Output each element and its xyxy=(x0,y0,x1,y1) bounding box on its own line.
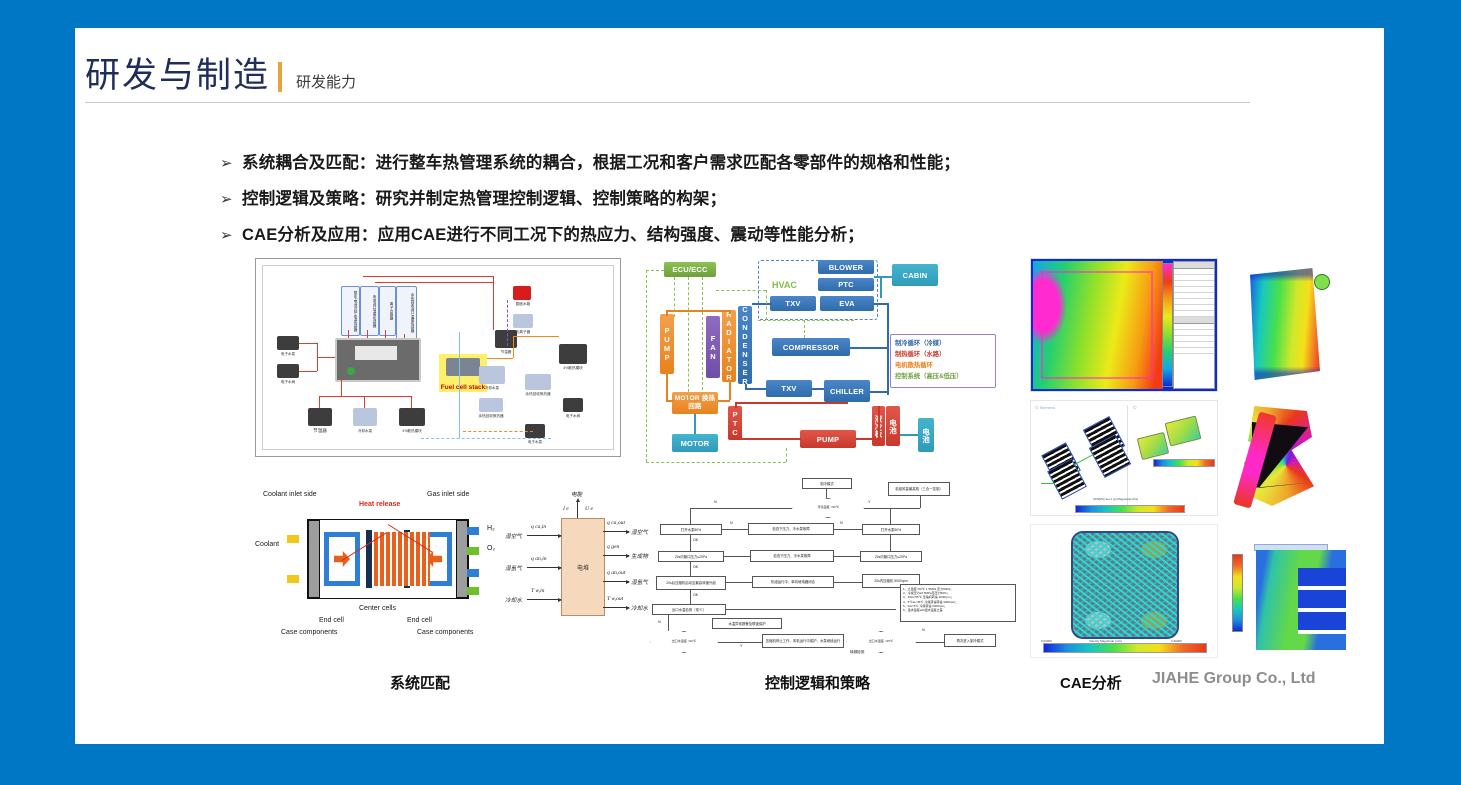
structural-stress-figure xyxy=(1230,540,1348,658)
separator-plate-left xyxy=(366,530,372,588)
list-item: ➢ 系统耦合及匹配：进行整车热管理系统的耦合，根据工况和客户需求匹配各零部件的规… xyxy=(220,152,1220,174)
flow-connector xyxy=(718,642,762,643)
plate-port-inlet xyxy=(1085,541,1111,558)
pipe-red xyxy=(856,438,880,440)
flow-node: 20s内管口压力≤20Pa xyxy=(860,551,922,562)
component-coolant-pump xyxy=(353,408,377,426)
flow-connector xyxy=(834,582,862,583)
connector-wire xyxy=(341,378,342,396)
stress-fin-array xyxy=(1298,568,1346,634)
block-txv-mid: TXV xyxy=(766,380,812,397)
arrow-output-air xyxy=(603,531,629,532)
flow-branch-label: 转频检测 xyxy=(850,650,864,655)
pipe-cyan xyxy=(880,276,882,298)
stack-cross-section-figure: Coolant inlet side Heat release Gas inle… xyxy=(255,483,535,643)
flow-node: 20s内管口压力≤20Pa xyxy=(658,551,724,562)
block-compressor: COMPRESSOR xyxy=(772,338,850,356)
flow-connector xyxy=(916,642,944,643)
label-case-components-left: Case components xyxy=(281,629,337,636)
control-line-dashed xyxy=(804,320,805,338)
legend-item-heating: 制热循环（水路） xyxy=(895,349,991,360)
component-label: 节温器 xyxy=(303,429,337,433)
hvac-architecture-figure: HVAC ECU/ECC BLOWER PTC CABIN TXV EVA PU… xyxy=(640,258,1002,463)
ecu-module xyxy=(335,338,421,382)
connector-wire xyxy=(411,396,412,408)
connector-wire-blue-dashed xyxy=(421,438,551,439)
port-coolant-in xyxy=(287,535,299,543)
flow-branch-label: N xyxy=(840,521,843,525)
bullet-text: CAE分析及应用：应用CAE进行不同工况下的热应力、结构强度、震动等性能分析； xyxy=(242,224,864,246)
colorbar-tick: 2.30000 xyxy=(1171,639,1182,643)
input-symbol-air: q ca,in xyxy=(531,524,546,530)
block-txv-top: TXV xyxy=(770,296,816,311)
component-label: 电子水阀 xyxy=(271,380,305,384)
control-line-dashed xyxy=(702,277,703,395)
flow-node: 再次进入制冷模式 xyxy=(944,634,996,647)
plate-port-inlet-2 xyxy=(1085,612,1111,629)
output-label-air: 湿空气 xyxy=(631,528,648,536)
caption-system-matching: 系统匹配 xyxy=(390,672,450,693)
flow-path-line xyxy=(1041,483,1055,484)
component-label: 4%散热模块 xyxy=(393,429,431,433)
flow-node: 检查下压力、冷水泵故障 xyxy=(748,523,834,535)
connector-wire xyxy=(319,396,411,397)
flow-node: 出口水温检测（常℃） xyxy=(652,604,726,615)
plate-port-outlet xyxy=(1141,541,1167,558)
cfd-block xyxy=(1165,415,1202,446)
control-line-dashed xyxy=(646,270,647,462)
label-coolant: Coolant xyxy=(255,541,279,548)
component-label: 电子水阀 xyxy=(557,414,589,418)
sensor-label-box: 离子交换器 xyxy=(379,286,396,336)
panel-header xyxy=(1174,262,1214,269)
flow-connector xyxy=(920,496,921,508)
caption-control-strategy: 控制逻辑和策略 xyxy=(765,672,870,693)
input-symbol-coolant: T w,in xyxy=(531,588,544,594)
output-label-gen: 生成物 xyxy=(631,552,648,560)
cfd-block xyxy=(1137,432,1169,460)
stress-legend-colorbar xyxy=(1232,554,1243,632)
flow-note-box: 1、之温度>50℃ 1.5MPa 压力60Pa； 2、冷媒压力≥0.5MPa至压… xyxy=(900,584,1016,622)
control-line-dashed xyxy=(786,448,787,462)
pipe-orange xyxy=(666,374,668,400)
pipe-orange xyxy=(666,310,668,316)
pipe-blue xyxy=(745,388,766,390)
bullet-text: 控制逻辑及策略：研究并制定热管理控制逻辑、控制策略的构架； xyxy=(242,188,726,210)
block-ecu: ECU/ECC xyxy=(664,262,716,277)
pipe-blue xyxy=(752,303,772,305)
cfd-colorbar-right xyxy=(1153,459,1215,467)
thermal-measurement-panel xyxy=(1173,261,1215,389)
component-electronic-valve-right xyxy=(563,398,583,412)
block-cabin: CABIN xyxy=(892,264,938,286)
energy-balance-figure: 电能 I e U e 电堆 湿空气 q ca,in 湿氢气 q an,in 冷却… xyxy=(505,480,655,645)
block-pump-bottom: PUMP xyxy=(800,430,856,448)
port-coolant-out xyxy=(287,575,299,583)
flow-connector xyxy=(690,508,792,509)
block-battery-blue: 电池 xyxy=(918,418,934,452)
radiator-temperature-field xyxy=(1244,268,1320,380)
flow-decision: 环境温度 >50℃ xyxy=(792,498,864,518)
component-heat-module xyxy=(399,408,425,426)
flow-connector xyxy=(690,535,691,551)
label-end-cell-right: End cell xyxy=(407,617,432,624)
block-chiller: CHILLER xyxy=(824,380,870,402)
panel-header xyxy=(1174,317,1214,324)
sensor-label-box: 整车/电池冷却水温传感器 xyxy=(341,286,360,336)
component-heat-module-right xyxy=(559,344,587,364)
component-label: 节温器 xyxy=(489,350,523,354)
flow-branch-label: N xyxy=(714,500,717,504)
terminal-voltage: U e xyxy=(585,506,593,512)
fuel-cell-body xyxy=(446,358,480,376)
component-label: 余热回收换热器 xyxy=(473,414,509,418)
input-label-coolant: 冷却水 xyxy=(505,596,522,604)
flow-connector xyxy=(890,535,891,551)
input-symbol-h2: q an,in xyxy=(531,556,547,562)
control-line-dashed xyxy=(646,270,664,271)
flow-path-line xyxy=(1074,454,1094,465)
pipe-blue xyxy=(850,347,887,349)
pipe-red xyxy=(735,438,801,440)
label-h2: H₂ xyxy=(487,525,495,532)
output-label-h2: 湿氢气 xyxy=(631,578,648,586)
flow-decision-text: 出口水温度 >60℃ xyxy=(672,640,697,643)
arrow-electric-output xyxy=(577,502,578,518)
pipe-cyan xyxy=(874,276,892,278)
flow-branch-label: Y xyxy=(868,500,870,504)
caption-cae-analysis: CAE分析 xyxy=(1060,672,1122,693)
company-brand: JIAHE Group Co., Ltd xyxy=(1152,670,1316,688)
flow-node: 检查下压力、冷水泵故障 xyxy=(750,550,834,562)
flow-decision-text: 出口水温度 <35℃ xyxy=(869,640,894,643)
port-o2-out xyxy=(467,587,479,595)
pipe-cyan xyxy=(694,414,696,434)
sensor-label-box: 电堆进口温度传感器 xyxy=(360,286,379,336)
flow-node: 水温异常报警及联锁保护 xyxy=(712,618,782,629)
flow-connector xyxy=(890,508,891,524)
component-label: 冷却水泵 xyxy=(348,429,382,433)
pipe-orange xyxy=(666,400,674,402)
flow-node: 机组运行中，单向继电器闭合 xyxy=(752,576,834,588)
pipe-blue xyxy=(812,388,824,390)
connector-wire xyxy=(317,357,335,358)
system-schematic-figure: 整车/电池冷却水温传感器 电堆进口温度传感器 离子交换器 余热回收进口温度传感器… xyxy=(255,258,621,457)
component-coolant-pump-right xyxy=(479,366,505,384)
cfd-colorbar-bottom xyxy=(1075,505,1185,513)
pipe-blue xyxy=(870,391,887,393)
pipe-orange xyxy=(729,310,731,314)
watermark-logo: ⌬ Siemens xyxy=(1035,405,1055,410)
control-line-dashed xyxy=(766,290,767,320)
colorbar-label: CFD[Pa] 1e+1 (p) Magnitude (Pa) xyxy=(1093,497,1138,501)
label-electric-output: 电能 xyxy=(571,490,582,498)
connector-wire-orange-dashed xyxy=(463,431,533,432)
thermal-colorbar xyxy=(1162,263,1173,387)
output-symbol-gen: q gen xyxy=(607,544,619,550)
block-radiator: RADIATOR xyxy=(722,310,736,382)
label-coolant-inlet-side: Coolant inlet side xyxy=(263,491,317,498)
flow-node: 压缩机停止工作，风机运行中保护，水泵继续运行 xyxy=(762,634,844,648)
flow-connector xyxy=(722,529,748,530)
flow-node: 20s后压缩机启动至最高转速升起 xyxy=(656,576,726,590)
center-cell-stack xyxy=(374,532,430,586)
output-symbol-air: q ca,out xyxy=(607,520,625,526)
block-fan: FAN xyxy=(706,316,720,378)
pipe-red xyxy=(735,402,847,404)
flow-connector xyxy=(726,582,752,583)
radiator-cfd-figure xyxy=(1230,258,1340,392)
legend-item-control: 控制系统（高压&低压） xyxy=(895,371,991,382)
control-line-dashed xyxy=(716,290,766,291)
flow-connector xyxy=(690,508,691,524)
hvac-group-label: HVAC xyxy=(772,280,797,290)
title-row: 研发与制造 研发能力 xyxy=(85,50,1250,96)
control-line-dashed xyxy=(674,277,675,317)
block-eva: EVA xyxy=(820,296,874,311)
block-pump-left: PUMP xyxy=(660,314,674,374)
bullet-text: 系统耦合及匹配：进行整车热管理系统的耦合，根据工况和客户需求匹配各零部件的规格和… xyxy=(242,152,960,174)
label-heat-release: Heat release xyxy=(359,501,400,508)
connector-wire xyxy=(363,276,493,277)
arrow-input-h2 xyxy=(527,567,561,568)
note-line: 6、温水温度≤60温水温度之差 xyxy=(903,608,1013,612)
case-plate-left xyxy=(308,520,320,598)
flow-branch-label: N xyxy=(730,521,733,525)
list-item: ➢ CAE分析及应用：应用CAE进行不同工况下的热应力、结构强度、震动等性能分析… xyxy=(220,224,1220,246)
component-deionizer xyxy=(513,314,533,328)
ecu-indicator-icon xyxy=(347,367,355,375)
flow-branch-label: N xyxy=(922,628,925,632)
label-center-cells: Center cells xyxy=(359,605,396,612)
flow-branch-label: OK xyxy=(693,538,698,542)
flow-node: 打开水泵80% xyxy=(660,524,722,535)
control-line-dashed xyxy=(758,320,854,321)
flow-branch-label: OK xyxy=(693,565,698,569)
plate-colorbar xyxy=(1043,643,1207,653)
connector-wire-orange xyxy=(513,336,514,358)
bullet-arrow-icon: ➢ xyxy=(220,152,242,174)
system-schematic-canvas: 整车/电池冷却水温传感器 电堆进口温度传感器 离子交换器 余热回收进口温度传感器… xyxy=(262,265,614,450)
pipe-blue xyxy=(887,303,889,395)
component-label: 电子水泵 xyxy=(519,440,551,444)
output-symbol-coolant: T w,out xyxy=(607,596,623,602)
block-motor-loop: MOTOR 换热回路 xyxy=(672,392,718,414)
plate-heat-exchanger-figure: Velocity Magnitude (m/s) 0.00000 2.30000 xyxy=(1030,524,1218,658)
block-ptc-bottom: PTC xyxy=(728,406,742,440)
component-electronic-pump xyxy=(277,336,299,350)
component-label: 4%散热模块 xyxy=(553,366,593,370)
component-label: 膨胀水箱 xyxy=(507,302,539,306)
slide-header: 研发与制造 研发能力 xyxy=(85,50,1250,110)
flow-branch-label: OK xyxy=(693,593,698,597)
component-heat-exchanger-2 xyxy=(479,398,503,412)
label-o2: O₂ xyxy=(487,545,495,552)
stack-body xyxy=(307,519,469,599)
control-line-dashed xyxy=(646,462,786,463)
plate-port-outlet-2 xyxy=(1141,612,1167,629)
block-motor: MOTOR xyxy=(672,434,718,452)
pipe-cyan xyxy=(900,434,918,436)
flow-connector xyxy=(864,508,920,509)
flow-connector xyxy=(834,529,862,530)
block-battery-red: 电池 xyxy=(886,406,900,446)
component-expansion-tank xyxy=(513,286,531,300)
input-label-h2: 湿氢气 xyxy=(505,564,522,572)
block-blower: BLOWER xyxy=(818,260,874,274)
connector-wire xyxy=(299,371,317,372)
title-divider-bar xyxy=(278,62,282,92)
bullet-arrow-icon: ➢ xyxy=(220,188,242,210)
watermark-logo-2: ⌬ xyxy=(1133,405,1137,410)
colorbar-tick: 0.00000 xyxy=(1041,639,1052,643)
control-flowchart-figure: 制冷模式 环境温度 >50℃ 机组风量最高档（三合一控制） N Y 打开水泵80… xyxy=(650,476,1020,656)
flow-branch-label: N xyxy=(658,620,661,624)
pipe-red xyxy=(846,402,848,404)
thermal-heatmap xyxy=(1033,261,1163,389)
bullet-list: ➢ 系统耦合及匹配：进行整车热管理系统的耦合，根据工况和客户需求匹配各零部件的规… xyxy=(220,152,1220,260)
legend-item-motor: 电机散热循环 xyxy=(895,360,991,371)
port-o2 xyxy=(467,547,479,555)
component-label: 冷却水泵 xyxy=(473,386,511,390)
stack-box-label: 电堆 xyxy=(562,563,604,572)
port-h2-out xyxy=(467,569,479,577)
flow-connector xyxy=(726,609,896,610)
connector-wire-orange xyxy=(487,358,513,359)
plate-velocity-field xyxy=(1071,531,1179,639)
flow-node: 机组风量最高档（三合一控制） xyxy=(888,482,950,496)
block-ptc-top: PTC xyxy=(818,278,874,291)
arrow-input-coolant xyxy=(527,599,561,600)
pipe-red xyxy=(878,406,880,438)
page-title: 研发与制造 xyxy=(85,56,270,96)
legend-item-cooling: 制冷循环（冷媒） xyxy=(895,338,991,349)
thermal-part-outline xyxy=(1041,271,1153,379)
arrow-input-air xyxy=(527,535,561,536)
input-label-air: 湿空气 xyxy=(505,532,522,540)
flow-connector xyxy=(826,489,827,498)
page-subtitle: 研发能力 xyxy=(296,73,356,96)
block-condenser: CONDENSER xyxy=(738,306,752,384)
flow-node: 制冷模式 xyxy=(802,478,852,489)
flow-connector xyxy=(834,556,860,557)
connector-wire xyxy=(493,276,494,330)
header-rule xyxy=(85,102,1250,103)
output-label-coolant: 冷却水 xyxy=(631,604,648,612)
component-heat-exchanger xyxy=(525,374,551,390)
arrow-output-coolant xyxy=(603,607,629,608)
pipe-orange xyxy=(666,310,730,312)
control-line-dashed xyxy=(688,277,689,397)
modal-vibration-figure xyxy=(1230,400,1340,516)
flow-connector xyxy=(668,615,669,631)
colorbar-label: Velocity Magnitude (m/s) xyxy=(1089,639,1122,643)
flow-branch-label: Y xyxy=(740,644,742,648)
flow-decision: 出口水温度 >60℃ xyxy=(650,631,718,653)
bullet-arrow-icon: ➢ xyxy=(220,224,242,246)
label-end-cell-left: End cell xyxy=(319,617,344,624)
connector-wire-blue xyxy=(459,332,460,438)
pipe-orange xyxy=(718,400,730,402)
label-case-components-right: Case components xyxy=(417,629,473,636)
flow-decision-text: 环境温度 >50℃ xyxy=(817,506,838,509)
stack-box: 电堆 xyxy=(561,518,605,616)
output-symbol-h2: q an,out xyxy=(607,570,625,576)
port-h2 xyxy=(467,527,479,535)
figure-grid: 整车/电池冷却水温传感器 电堆进口温度传感器 离子交换器 余热回收进口温度传感器… xyxy=(255,258,1355,668)
thermal-imaging-figure xyxy=(1030,258,1218,392)
pipe-blue xyxy=(874,303,888,305)
cold-plate-cfd-figure: ⌬ Siemens ⌬ CFD[Pa] 1e+1 (p) Magnitude (… xyxy=(1030,400,1218,516)
flow-node: 打开水泵50% xyxy=(862,524,920,535)
component-label: 电子水泵 xyxy=(271,352,305,356)
connector-wire-purple xyxy=(507,300,508,346)
sensor-label-box: 余热回收进口温度传感器 xyxy=(396,286,417,340)
arrow-output-h2 xyxy=(603,581,629,582)
component-thermostat xyxy=(308,408,332,426)
connector-wire xyxy=(319,396,320,408)
connector-wire xyxy=(375,282,493,283)
flow-connector xyxy=(724,556,750,557)
connector-wire xyxy=(364,396,365,408)
connector-wire xyxy=(299,343,317,344)
list-item: ➢ 控制逻辑及策略：研究并制定热管理控制逻辑、控制策略的构架； xyxy=(220,188,1220,210)
label-gas-inlet-side: Gas inlet side xyxy=(427,491,469,498)
arrow-output-gen xyxy=(603,555,629,556)
component-electronic-valve xyxy=(277,364,299,378)
radiator-cap-icon xyxy=(1314,274,1330,290)
diagram-legend: 制冷循环（冷媒） 制热循环（水路） 电机散热循环 控制系统（高压&低压） xyxy=(890,334,996,388)
table-row xyxy=(1174,348,1214,354)
connector-wire-orange xyxy=(513,336,559,337)
component-label: 余热回收换热器 xyxy=(519,392,557,396)
terminal-current: I e xyxy=(563,506,569,512)
pipe-orange xyxy=(729,382,731,400)
